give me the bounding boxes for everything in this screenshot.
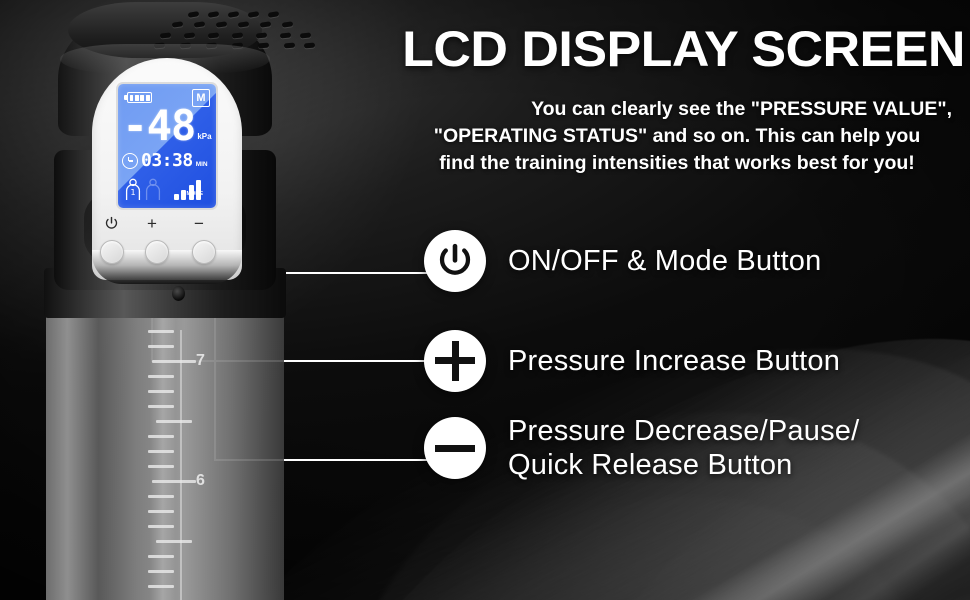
scale-tick	[148, 390, 174, 393]
vent-slot	[268, 11, 280, 18]
description-line-1: You can clearly see the "PRESSURE VALUE"…	[396, 96, 958, 123]
pressure-unit: kPa	[197, 132, 211, 141]
vent-slot	[248, 11, 260, 18]
status-row: 1 MODE	[122, 176, 214, 204]
button-row: + −	[100, 216, 234, 264]
pressure-reading: -48 kPa	[120, 106, 214, 146]
plus-icon	[424, 330, 486, 392]
pressure-value: -48	[122, 106, 195, 146]
scale-tick	[148, 495, 174, 498]
vent-slot	[184, 32, 195, 38]
infographic-canvas: 76 M -48 kPa	[0, 0, 970, 600]
scale-tick	[156, 420, 192, 423]
scale-tick	[152, 360, 196, 363]
vent-slot	[280, 32, 291, 38]
description-line-2: "OPERATING STATUS" and so on. This can h…	[396, 123, 958, 150]
vent-slot	[300, 32, 311, 38]
scale-tick	[148, 435, 174, 438]
callout-decrease-label: Pressure Decrease/Pause/ Quick Release B…	[508, 414, 859, 482]
vent-slot	[260, 21, 272, 27]
clock-icon	[122, 153, 138, 169]
vent-slot	[304, 43, 315, 49]
svg-text:1: 1	[130, 188, 135, 197]
callout-power: ON/OFF & Mode Button	[424, 230, 821, 292]
vent-slot	[208, 32, 219, 38]
measurement-scale: 76	[148, 330, 204, 600]
plus-glyph-label: +	[147, 215, 157, 232]
callout-increase: Pressure Increase Button	[424, 330, 840, 392]
vent-slot	[282, 21, 294, 27]
vent-slot	[160, 32, 171, 38]
scale-tick	[148, 555, 174, 558]
scale-rail	[180, 330, 182, 600]
vent-slot	[172, 21, 184, 27]
vent-slot	[232, 32, 243, 38]
vent-slot	[284, 43, 295, 49]
lcd-screen: M -48 kPa 03:38 MIN 1	[118, 84, 216, 208]
power-button[interactable]	[100, 240, 124, 264]
description-line-3: find the training intensities that works…	[396, 150, 958, 177]
minus-glyph-label: −	[194, 215, 204, 232]
scale-tick	[152, 480, 196, 483]
scale-tick	[148, 330, 174, 333]
product-image: 76 M -48 kPa	[0, 0, 330, 600]
scale-tick	[148, 570, 174, 573]
description-paragraph: You can clearly see the "PRESSURE VALUE"…	[396, 96, 958, 177]
scale-tick	[148, 510, 174, 513]
vent-slot	[216, 21, 228, 27]
decrease-button[interactable]	[192, 240, 216, 264]
scale-tick	[148, 525, 174, 528]
timer-row: 03:38 MIN	[122, 152, 214, 170]
vent-slot	[208, 11, 220, 18]
callout-decrease: Pressure Decrease/Pause/ Quick Release B…	[424, 414, 859, 482]
minus-icon	[424, 417, 486, 479]
mode-signal-bars: MODE	[174, 180, 202, 200]
scale-tick	[148, 465, 174, 468]
vent-slot	[258, 43, 269, 49]
vent-slot	[238, 21, 250, 27]
scale-tick	[148, 585, 174, 588]
scale-tick	[148, 345, 174, 348]
scale-label: 6	[196, 472, 205, 490]
vent-slot	[256, 32, 267, 38]
page-title: LCD DISPLAY SCREEN	[384, 24, 970, 74]
vent-slot	[228, 11, 240, 18]
scale-tick	[156, 540, 192, 543]
power-icon	[424, 230, 486, 292]
power-glyph-icon	[104, 216, 119, 231]
scale-tick	[148, 405, 174, 408]
timer-value: 03:38	[141, 152, 193, 170]
scale-tick	[148, 375, 174, 378]
person-1-icon: 1	[124, 178, 142, 202]
increase-button[interactable]	[145, 240, 169, 264]
scale-tick	[148, 450, 174, 453]
scale-label: 7	[196, 352, 205, 370]
callout-increase-label: Pressure Increase Button	[508, 344, 840, 378]
vent-slot	[188, 11, 200, 18]
callout-power-label: ON/OFF & Mode Button	[508, 244, 821, 278]
vent-slot	[194, 21, 206, 27]
nozzle-port	[172, 286, 185, 301]
person-2-icon	[144, 178, 162, 202]
timer-unit: MIN	[196, 161, 208, 168]
mode-label: MODE	[187, 191, 204, 197]
